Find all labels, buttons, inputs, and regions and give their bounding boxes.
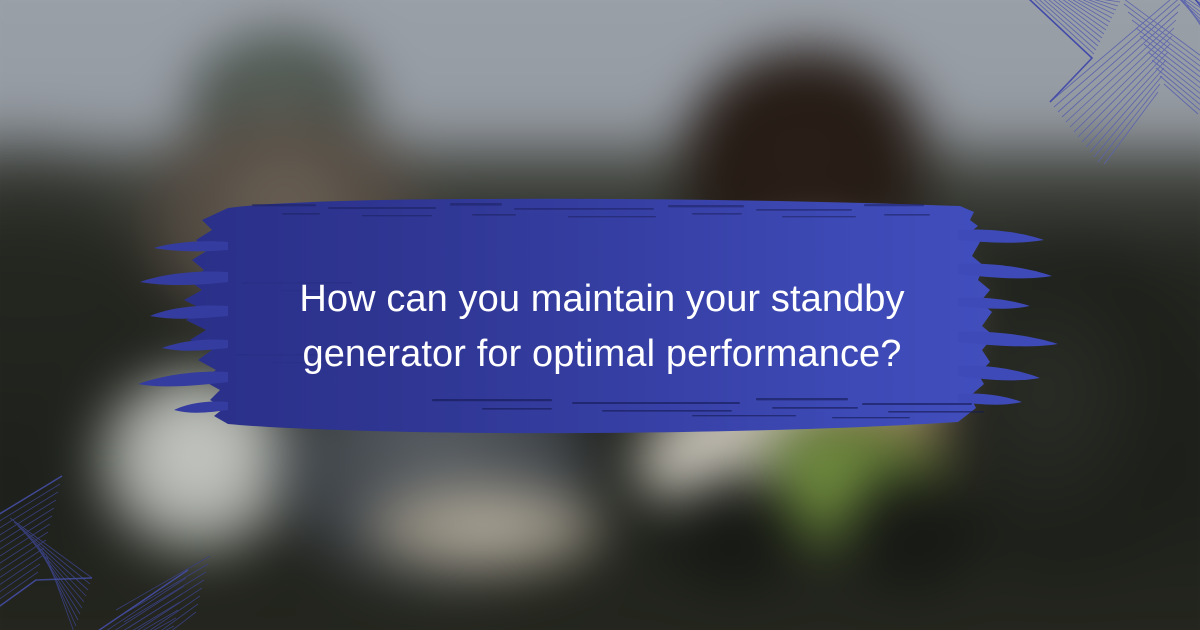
headline-banner: How can you maintain your standby genera… xyxy=(132,186,1072,450)
background-shape-paper xyxy=(360,480,610,575)
headline-line-2: generator for optimal performance? xyxy=(302,333,901,375)
background-shape-wheel-left xyxy=(670,470,800,590)
headline-text: How can you maintain your standby genera… xyxy=(132,272,1072,382)
headline-line-1: How can you maintain your standby xyxy=(299,278,904,320)
background-shape-wheel-right xyxy=(845,470,975,590)
social-card: How can you maintain your standby genera… xyxy=(0,0,1200,630)
